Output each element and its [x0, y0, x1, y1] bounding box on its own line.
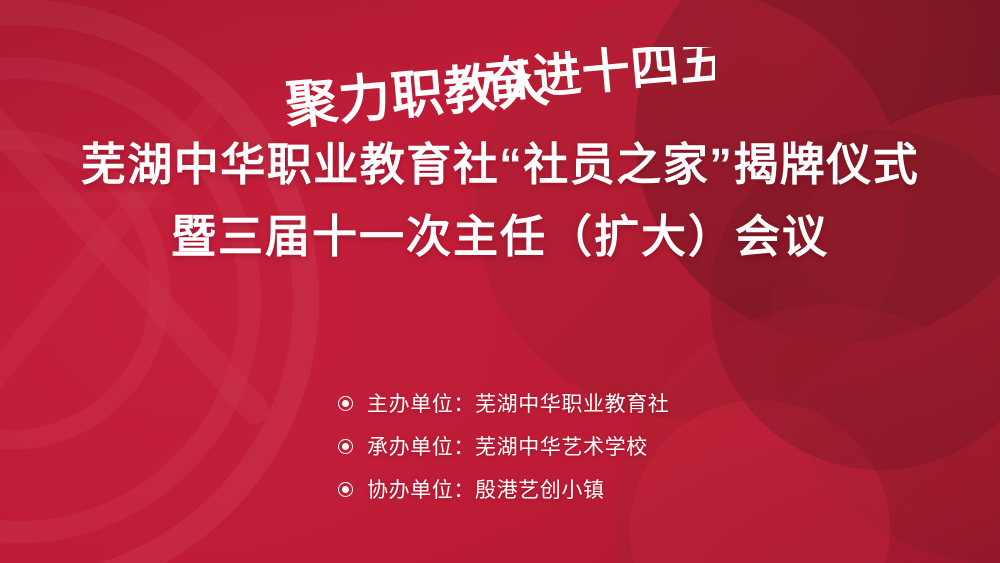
title-line-1: 芜湖中华职业教育社“社员之家”揭牌仪式 — [0, 136, 1000, 195]
poster-canvas: 聚力职教人 奋进十四五 芜湖中华职业教育社“社员之家”揭牌仪式 暨三届十一次主任… — [0, 0, 1000, 563]
organizer-host-label: 主办单位：芜湖中华职业教育社 — [367, 388, 669, 418]
list-item: 协办单位：殷港艺创小镇 — [338, 474, 669, 504]
calligraphy-part-2: 奋进十四五 — [482, 47, 715, 110]
calligraphy-svg: 聚力职教人 奋进十四五 — [285, 47, 715, 131]
ring-dot-icon — [338, 439, 353, 454]
ring-dot-icon — [338, 482, 353, 497]
title-line-2: 暨三届十一次主任（扩大）会议 — [0, 208, 1000, 267]
organizer-coorganizer-label: 协办单位：殷港艺创小镇 — [367, 474, 605, 504]
organizer-organizer-label: 承办单位：芜湖中华艺术学校 — [367, 431, 648, 461]
organizer-list: 主办单位：芜湖中华职业教育社 承办单位：芜湖中华艺术学校 协办单位：殷港艺创小镇 — [338, 388, 669, 504]
page-title: 芜湖中华职业教育社“社员之家”揭牌仪式 暨三届十一次主任（扩大）会议 — [0, 136, 1000, 266]
calligraphy-part-1: 聚力职教人 — [285, 53, 552, 131]
list-item: 承办单位：芜湖中华艺术学校 — [338, 431, 669, 461]
calligraphy-banner: 聚力职教人 奋进十四五 — [0, 46, 1000, 132]
list-item: 主办单位：芜湖中华职业教育社 — [338, 388, 669, 418]
poster-content: 聚力职教人 奋进十四五 芜湖中华职业教育社“社员之家”揭牌仪式 暨三届十一次主任… — [0, 0, 1000, 563]
ring-dot-icon — [338, 396, 353, 411]
